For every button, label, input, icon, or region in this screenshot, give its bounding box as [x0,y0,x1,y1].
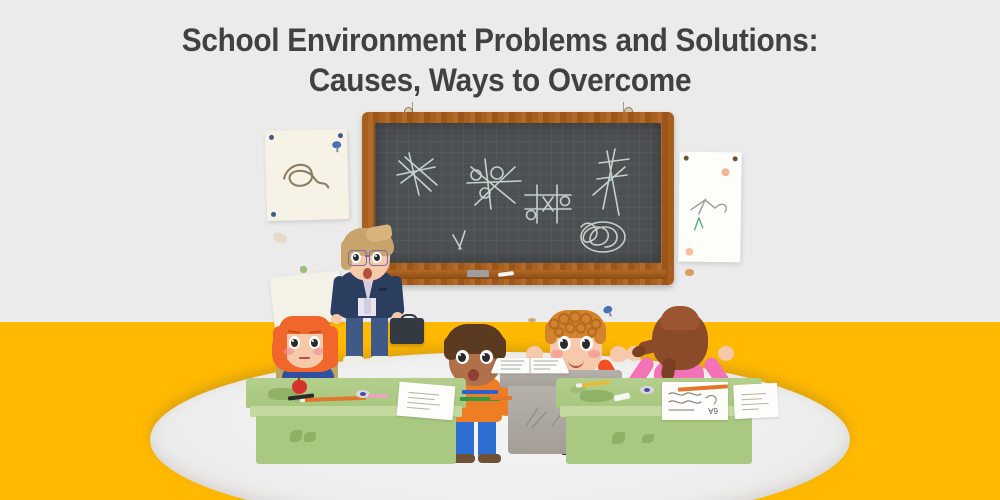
page-title-line-2: Causes, Ways to Overcome [35,60,965,100]
curly-hair-texture [544,308,608,338]
pencil-orange-left-2 [490,396,512,400]
wall-fleck-b [685,269,694,276]
desk-right-front [566,416,752,464]
pencil-blue-left [462,390,498,394]
push-pin-icon [332,141,341,152]
worksheet-left-lines [401,386,453,418]
tape-dispenser-right [640,386,654,394]
wall-paper-left [265,129,349,221]
desk-left-front [256,416,456,464]
wall-fleck-a [300,266,307,273]
page-title-line-1: School Environment Problems and Solution… [182,22,818,58]
desk-right: 6A [556,378,762,468]
desk-left [246,378,466,468]
pencil-pink-left [368,394,388,398]
notebook-right-scribbles: 6A [664,386,726,418]
chalkboard-eraser [467,270,489,277]
banner: School Environment Problems and Solution… [0,0,1000,500]
apple [292,380,307,394]
wall-paper-right [678,152,742,263]
teacher-mouth [363,268,372,279]
page-title: School Environment Problems and Solution… [35,20,965,100]
svg-text:6A: 6A [708,406,718,415]
worksheet-right-lines [737,387,776,417]
open-book-text [498,356,562,374]
boy-dark-mouth [468,369,479,381]
wall-paper-right-scribble [678,152,742,263]
